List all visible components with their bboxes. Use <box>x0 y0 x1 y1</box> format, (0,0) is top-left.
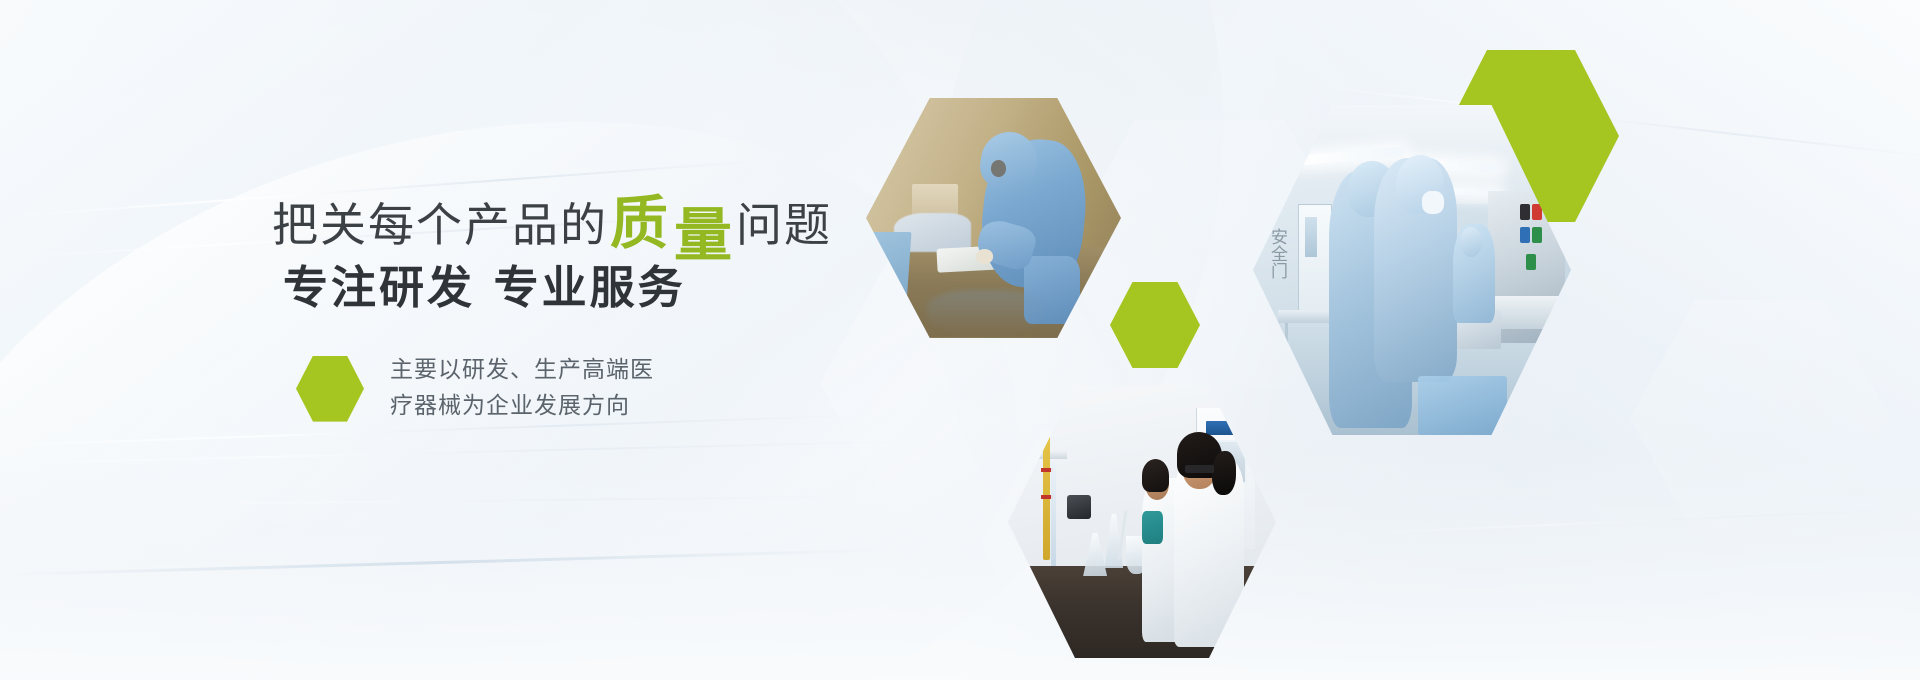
headline-highlight-zhi: 质 <box>610 194 670 252</box>
photo-worker-mask <box>1422 191 1444 214</box>
photo-worker-glove <box>976 249 994 263</box>
photo-technician-hair <box>1142 459 1169 492</box>
headline-line-2: 专注研发 专业服务 <box>283 251 686 316</box>
photo-technician-ponytail <box>1212 451 1236 495</box>
photo-machine-indicator <box>1520 204 1530 220</box>
photo-blue-container <box>1418 376 1507 435</box>
photo-machine-indicator <box>1526 254 1536 270</box>
headline-prefix: 把关每个产品的 <box>272 202 608 248</box>
photo-floor-reflection <box>927 290 1044 333</box>
subtitle-text: 主要以研发、生产高端医 疗器械为企业发展方向 <box>390 353 654 424</box>
green-hexagon-bullet-icon <box>296 356 364 422</box>
headline-line-1: 把关每个产品的 质 量 问题 <box>272 190 832 248</box>
photo-burette <box>1051 462 1056 582</box>
subtitle-line-2: 疗器械为企业发展方向 <box>390 389 654 425</box>
photo-machine-indicator <box>1520 227 1530 243</box>
photo-technician-glasses <box>1185 465 1214 473</box>
photo-stirrer <box>1067 495 1091 519</box>
photo-technician-inner-shirt <box>1142 511 1163 544</box>
subtitle-block: 主要以研发、生产高端医 疗器械为企业发展方向 <box>296 353 654 424</box>
subtitle-line-1: 主要以研发、生产高端医 <box>390 353 654 389</box>
hero-banner: 安全门 <box>0 0 1920 680</box>
headline-suffix: 问题 <box>736 202 832 248</box>
photo-worker-head <box>1460 227 1482 257</box>
photo-door-placard <box>1206 421 1249 435</box>
photo-machine-indicator <box>1532 227 1542 243</box>
photo-door-window <box>1305 217 1316 257</box>
